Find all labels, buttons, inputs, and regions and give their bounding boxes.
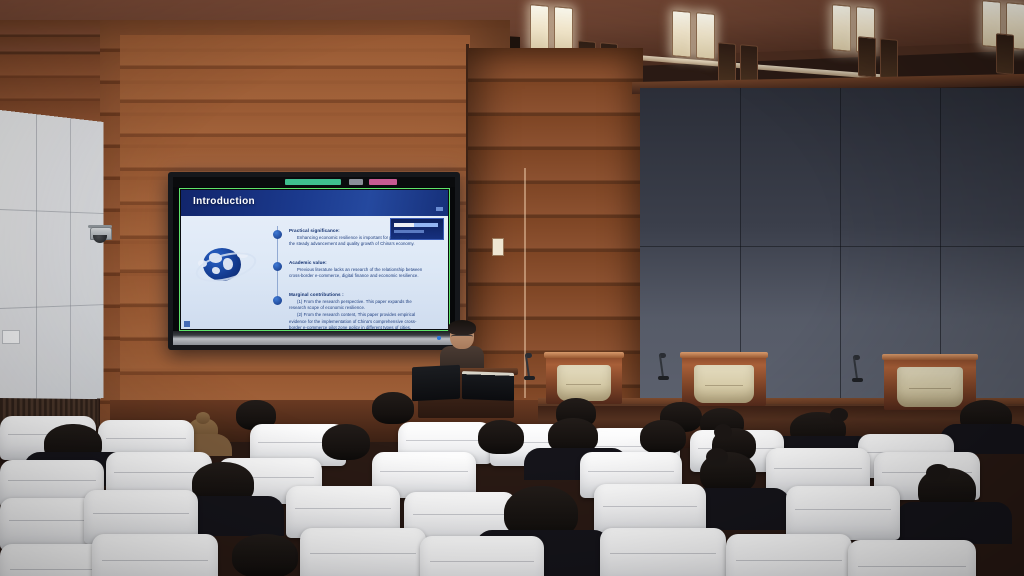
audience-seat[interactable] (786, 486, 900, 540)
block-heading: Practical significance: (289, 228, 415, 233)
slide-block: Marginal contributions : (1) From the re… (289, 292, 416, 329)
attendee-hair-bun (926, 464, 950, 482)
ceiling-light-fixture (672, 10, 715, 60)
presenter-hair (448, 320, 476, 335)
toolbar-chip-right[interactable] (369, 179, 397, 185)
toolbar-chip-left[interactable] (285, 179, 341, 185)
toolbar-chip-middle[interactable] (349, 179, 363, 185)
logo-wordmark (394, 223, 438, 227)
chair-top-rail (882, 354, 978, 360)
ceiling-light-tube (530, 4, 549, 52)
ceiling-light-tube (832, 4, 851, 52)
block-line: (1) From the research perspective. This … (289, 299, 416, 306)
block-line: Previous literature lacks an research of… (289, 267, 422, 274)
camera-lens-dome (93, 235, 107, 243)
slide-block: Practical significance: Enhancing econom… (289, 228, 415, 248)
microphone-stem (659, 355, 664, 377)
vent-slat (718, 42, 736, 84)
slide-footer-icon (184, 321, 190, 327)
slide-viewport: Introduction (179, 188, 450, 331)
block-line: Enhancing economic resilience is importa… (289, 235, 415, 242)
slide-block: Academic value: Previous literature lack… (289, 260, 422, 280)
audience-seat[interactable] (726, 534, 852, 576)
block-line: evidence for the implementation of China… (289, 319, 416, 326)
ceiling-air-vent (858, 36, 898, 79)
attendee-shoulders (896, 502, 1012, 544)
rostrum-microphone (524, 352, 536, 380)
block-line: cross-border e-commerce, digital finance… (289, 273, 422, 280)
wall-switch-plate[interactable] (492, 238, 504, 256)
microphone-base (658, 376, 669, 380)
vent-slat (858, 36, 876, 78)
vent-slat (996, 33, 1014, 75)
block-heading: Academic value: (289, 260, 422, 265)
bullet-dot-icon (273, 296, 282, 305)
rostrum-chair (682, 356, 766, 406)
chair-backrest (557, 365, 612, 401)
audience-seat[interactable] (600, 528, 726, 576)
light-switch-plate[interactable] (2, 330, 20, 344)
microphone-stem (525, 355, 530, 377)
attendee-hair-bun (714, 424, 732, 440)
audience-seat[interactable] (420, 536, 544, 576)
microphone-base (852, 378, 863, 382)
presentation-display[interactable]: Introduction (168, 172, 460, 350)
attendee-head (232, 534, 298, 576)
attendee-hair-bun (830, 408, 848, 422)
chair-backrest (694, 365, 754, 403)
ceiling-light-fixture (530, 4, 573, 54)
attendee-head (640, 420, 686, 454)
slide-title: Introduction (193, 196, 255, 207)
attendee-head (372, 392, 414, 424)
confidence-monitor[interactable] (462, 371, 514, 401)
wall-white-acoustic-tiles (0, 110, 103, 410)
presentation-slide: Introduction (181, 190, 448, 329)
world-globe-graphic (195, 242, 253, 286)
presentation-toolbar[interactable] (173, 177, 455, 187)
block-line: the steady advancement and quality growt… (289, 241, 415, 248)
block-heading: Marginal contributions : (289, 292, 416, 297)
bullet-dot-icon (273, 230, 282, 239)
microphone-base (524, 376, 535, 380)
display-bezel-bottom (173, 331, 455, 345)
ceiling-light-tube (672, 10, 691, 58)
block-line: (2) From the research content, This pape… (289, 312, 416, 319)
chair-top-rail (680, 352, 768, 358)
rostrum-chair (546, 356, 622, 404)
audience-seat[interactable] (92, 534, 218, 576)
rostrum-microphone (658, 352, 670, 380)
chair-backrest (897, 367, 963, 407)
attendee-head (322, 424, 370, 460)
attendee-hair-bun (196, 412, 210, 424)
ceiling-air-vent (996, 33, 1014, 75)
security-camera-icon (88, 225, 114, 243)
conference-hall-photo: Introduction (0, 0, 1024, 576)
attendee-hair-bun (706, 448, 728, 466)
display-panel: Introduction (173, 177, 455, 345)
laptop[interactable] (412, 365, 460, 402)
rostrum-chair (884, 358, 976, 410)
rostrum-microphone (852, 352, 864, 382)
block-line: border e-commerce pilot zone policy in d… (289, 325, 416, 329)
bullet-dot-icon (273, 262, 282, 271)
ceiling-light-tube (554, 6, 573, 54)
audience-seat[interactable] (300, 528, 426, 576)
audience-seat[interactable] (848, 540, 976, 576)
slide-header-badge (436, 207, 443, 211)
vent-slat (880, 38, 898, 80)
globe-orbit-ring (193, 247, 259, 287)
attendee-head (478, 420, 524, 454)
ceiling-light-tube (696, 12, 715, 60)
block-line: research scope of economic resilience. (289, 305, 416, 312)
microphone-stem (853, 357, 858, 379)
chair-top-rail (544, 352, 624, 358)
glasses-icon (451, 335, 473, 341)
